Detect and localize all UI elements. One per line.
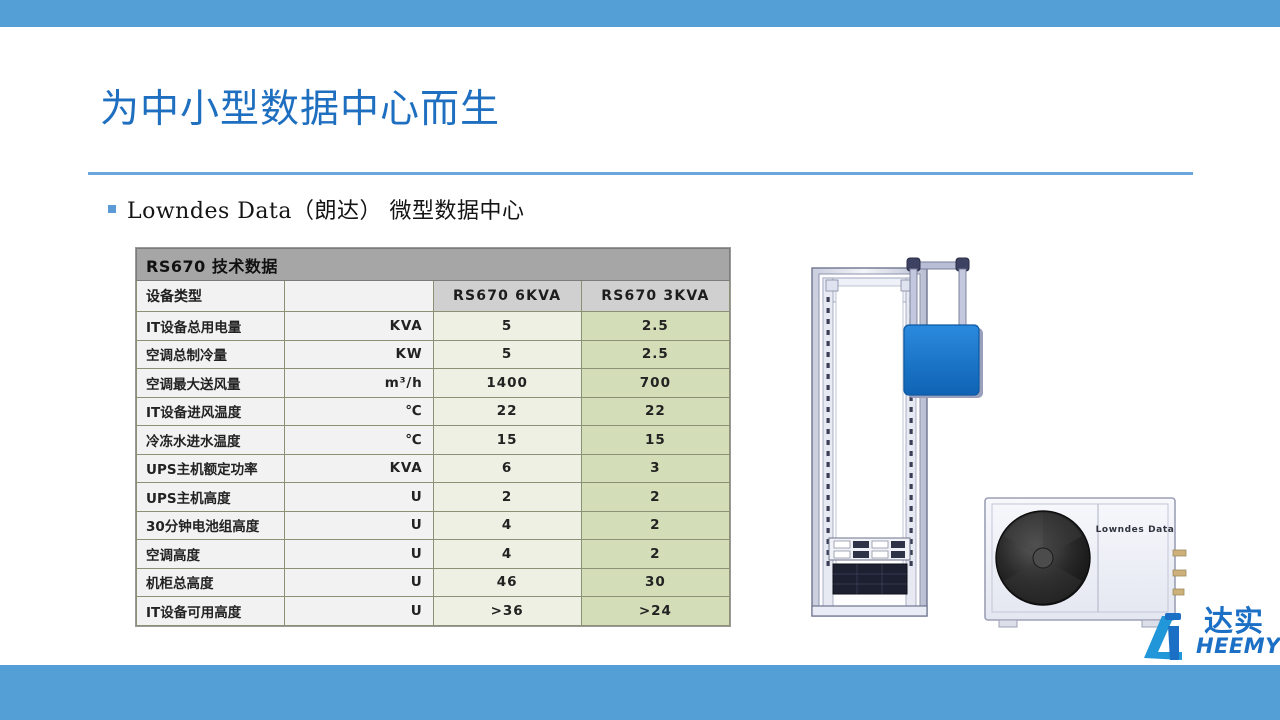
page-title: 为中小型数据中心而生 — [100, 78, 500, 134]
table-cell-parameter: UPS主机高度 — [137, 483, 285, 512]
table-cell-unit: U — [285, 540, 433, 569]
coolant-pipe — [907, 258, 969, 331]
table-cell-a: 15 — [433, 426, 581, 455]
bullet-square-icon — [108, 205, 116, 213]
table-row: 空调高度U42 — [137, 540, 730, 569]
table-row: 空调总制冷量KW52.5 — [137, 340, 730, 369]
table-row: IT设备进风温度℃2222 — [137, 397, 730, 426]
table-cell-b: 2 — [581, 511, 729, 540]
table-header-row: 设备类型 RS670 6KVA RS670 3KVA — [137, 281, 730, 312]
rack-ups-shelf — [829, 538, 910, 560]
table-cell-a: 22 — [433, 397, 581, 426]
top-accent-bar — [0, 0, 1280, 27]
table-cell-a: 5 — [433, 312, 581, 341]
table-row: IT设备总用电量KVA52.5 — [137, 312, 730, 341]
table-cell-b: 30 — [581, 568, 729, 597]
table-cell-b: 2.5 — [581, 340, 729, 369]
table-cell-unit: m³/h — [285, 369, 433, 398]
table-caption-row: RS670 技术数据 — [137, 249, 730, 281]
table-cell-b: 700 — [581, 369, 729, 398]
bullet-item-label: Lowndes Data（朗达） 微型数据中心 — [127, 193, 524, 225]
table-cell-a: 46 — [433, 568, 581, 597]
table-cell-unit: U — [285, 597, 433, 626]
table-cell-unit: U — [285, 511, 433, 540]
table-cell-unit: ℃ — [285, 397, 433, 426]
table-cell-unit: KW — [285, 340, 433, 369]
table-cell-parameter: 冷冻水进水温度 — [137, 426, 285, 455]
brand-name-cn: 达实 — [1204, 606, 1264, 636]
outdoor-unit-brand-label: Lowndes Data — [1096, 525, 1175, 535]
condenser-fan-icon — [996, 511, 1090, 605]
table-row: UPS主机额定功率KVA63 — [137, 454, 730, 483]
brand-name-en: HEEMY — [1196, 634, 1280, 658]
table-cell-a: 4 — [433, 511, 581, 540]
table-cell-b: >24 — [581, 597, 729, 626]
equipment-illustration-svg: Lowndes Data — [790, 240, 1190, 640]
bottom-accent-bar — [0, 665, 1280, 720]
table-row: IT设备可用高度U>36>24 — [137, 597, 730, 626]
spec-table: RS670 技术数据 设备类型 RS670 6KVA RS670 3KVA IT… — [136, 248, 730, 626]
title-divider — [88, 172, 1193, 175]
column-header-unit — [285, 281, 433, 312]
rack-server-block — [833, 564, 907, 594]
column-header-parameter: 设备类型 — [137, 281, 285, 312]
bullet-item: Lowndes Data（朗达） 微型数据中心 — [108, 193, 524, 225]
table-cell-a: 5 — [433, 340, 581, 369]
table-cell-parameter: UPS主机额定功率 — [137, 454, 285, 483]
table-cell-b: 2.5 — [581, 312, 729, 341]
table-cell-unit: U — [285, 568, 433, 597]
table-cell-parameter: IT设备总用电量 — [137, 312, 285, 341]
table-cell-parameter: 机柜总高度 — [137, 568, 285, 597]
table-cell-unit: KVA — [285, 454, 433, 483]
table-cell-a: 4 — [433, 540, 581, 569]
spec-table-body: RS670 技术数据 设备类型 RS670 6KVA RS670 3KVA IT… — [137, 249, 730, 626]
cdu-blue-panel — [904, 325, 983, 398]
table-cell-parameter: IT设备进风温度 — [137, 397, 285, 426]
table-caption: RS670 技术数据 — [137, 249, 730, 281]
table-cell-parameter: 空调高度 — [137, 540, 285, 569]
table-cell-parameter: 空调总制冷量 — [137, 340, 285, 369]
table-row: 冷冻水进水温度℃1515 — [137, 426, 730, 455]
table-cell-a: 2 — [433, 483, 581, 512]
table-row: UPS主机高度U22 — [137, 483, 730, 512]
table-cell-unit: ℃ — [285, 426, 433, 455]
column-header-model-b: RS670 3KVA — [581, 281, 729, 312]
table-cell-a: >36 — [433, 597, 581, 626]
brand-logo: 达实 HEEMY — [1138, 606, 1270, 664]
table-cell-parameter: 空调最大送风量 — [137, 369, 285, 398]
table-row: 机柜总高度U4630 — [137, 568, 730, 597]
table-cell-a: 6 — [433, 454, 581, 483]
table-cell-b: 2 — [581, 540, 729, 569]
table-cell-b: 3 — [581, 454, 729, 483]
column-header-model-a: RS670 6KVA — [433, 281, 581, 312]
table-cell-b: 15 — [581, 426, 729, 455]
table-cell-b: 2 — [581, 483, 729, 512]
equipment-illustration: Lowndes Data — [790, 240, 1190, 640]
table-cell-unit: KVA — [285, 312, 433, 341]
table-row: 30分钟电池组高度U42 — [137, 511, 730, 540]
table-cell-parameter: 30分钟电池组高度 — [137, 511, 285, 540]
table-cell-a: 1400 — [433, 369, 581, 398]
table-cell-unit: U — [285, 483, 433, 512]
table-row: 空调最大送风量m³/h1400700 — [137, 369, 730, 398]
table-cell-b: 22 — [581, 397, 729, 426]
table-cell-parameter: IT设备可用高度 — [137, 597, 285, 626]
